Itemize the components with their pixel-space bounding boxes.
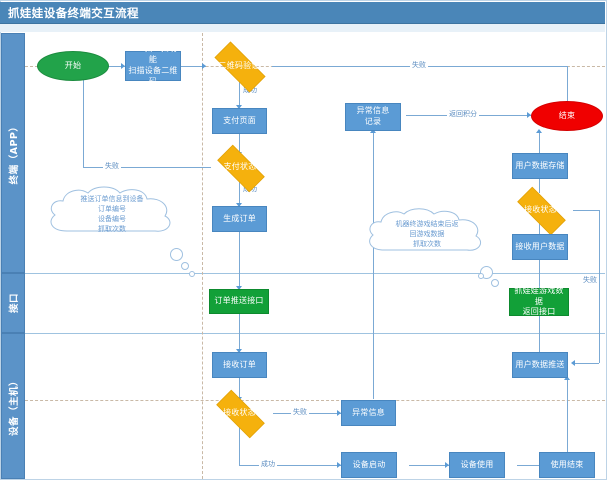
node-start-label: 开始 [65,61,81,72]
node-use-end[interactable]: 使用结束 [539,452,595,478]
edge-right-fail-bottom [575,363,599,364]
node-receive-status-right[interactable]: 接收状态 [508,196,573,224]
lane-divider-2 [25,333,605,334]
node-receive-status-right-label: 接收状态 [524,205,557,216]
node-error-info[interactable]: 异常信息 [341,400,396,426]
node-error-record[interactable]: 异常信息 记录 [345,103,401,131]
page-title: 抓娃娃设备终端交互流程 [8,5,139,21]
arrow-right-fail [571,360,575,366]
edge-label-qr-fail: 失败 [410,60,428,70]
node-device-use-label: 设备使用 [461,460,494,471]
node-start[interactable]: 开始 [37,51,109,81]
lane-divider-1 [25,273,605,274]
node-user-data-push-label: 用户数据推送 [515,360,564,371]
cloud-left-dot-1 [170,248,183,261]
node-pay-status[interactable]: 支付状态 [209,153,271,182]
edge-devstart-devuse [409,465,449,466]
guide-horizontal-bottom [25,400,605,401]
edge-errorinfo-record [373,131,374,399]
node-pay-page[interactable]: 支付页面 [212,108,267,134]
node-create-order[interactable]: 生成订单 [212,206,267,232]
node-scan-label: APP扫一扫功能 扫描设备二维码 [127,44,179,87]
edge-order-push [239,232,240,289]
edge-right-fail-down [599,210,600,363]
edge-right-fail-top [573,210,599,211]
edge-qr-success [239,80,240,107]
edge-label-record: 返回积分 [447,109,479,119]
node-user-data-store[interactable]: 用户数据存储 [512,153,568,179]
guide-vertical [202,33,203,479]
lane-header-interface: 接口 [1,273,25,333]
lane-label-device: 设备（主机） [6,376,20,436]
cloud-right-text: 机器终游戏结束后返 回游戏数据 抓取次数 [362,205,492,263]
cloud-right-dot-3 [478,273,484,279]
node-receive-order-label: 接收订单 [223,360,256,371]
edge-label-recv-fail: 失败 [291,407,309,417]
title-bar: 抓娃娃设备终端交互流程 [0,2,605,24]
arrow-store-end [536,129,542,133]
node-device-start[interactable]: 设备启动 [341,452,397,478]
node-create-order-label: 生成订单 [223,214,256,225]
cloud-left-text: 推送订单信息到设备 订单编号 设备编号 抓取次数 [43,183,181,245]
node-device-use[interactable]: 设备使用 [449,452,505,478]
node-scan[interactable]: APP扫一扫功能 扫描设备二维码 [125,51,181,81]
node-receive-status[interactable]: 接收状态 [207,399,272,427]
edge-useend-push [567,378,568,452]
node-error-record-label: 异常信息 记录 [357,106,390,128]
edge-pay-fail-up [83,75,84,167]
cloud-left-dot-2 [181,262,189,270]
node-end[interactable]: 结束 [531,101,603,131]
cloud-left-dot-3 [189,271,195,277]
node-qr-verify-label: 二维码验证 [219,61,260,72]
node-game-data-api-label: 抓娃娃游戏数据 返回接口 [511,286,567,318]
edge-label-right-fail: 失败 [581,275,599,285]
diagram-canvas: 失败 成功 失败 成功 失败 成功 [25,33,605,479]
node-pay-status-label: 支付状态 [224,162,257,173]
node-device-start-label: 设备启动 [353,460,386,471]
node-order-push-api[interactable]: 订单推送接口 [209,289,269,314]
edge-push-gameapi [539,314,540,352]
node-receive-user-data[interactable]: 接收用户数据 [512,234,568,260]
edge-label-recv-success: 成功 [259,459,277,469]
node-order-push-api-label: 订单推送接口 [214,296,263,307]
node-end-label: 结束 [559,111,575,122]
lane-label-interface: 接口 [6,293,20,313]
edge-recv-success-down [239,427,240,465]
node-error-info-label: 异常信息 [352,408,385,419]
node-qr-verify[interactable]: 二维码验证 [205,51,273,81]
node-pay-page-label: 支付页面 [223,116,256,127]
edge-push-receive [239,314,240,352]
node-game-data-api[interactable]: 抓娃娃游戏数据 返回接口 [509,288,569,316]
lane-header-device: 设备（主机） [1,333,25,479]
node-user-data-push[interactable]: 用户数据推送 [512,352,568,378]
lane-label-terminal: 终端（APP） [6,122,20,185]
edge-recv-success [239,465,341,466]
node-receive-order[interactable]: 接收订单 [212,352,267,378]
node-use-end-label: 使用结束 [551,460,584,471]
title-underbar [0,24,605,32]
edge-qr-fail-down [567,66,568,106]
lane-header-terminal: 终端（APP） [1,33,25,273]
node-user-data-store-label: 用户数据存储 [515,161,564,172]
cloud-right-dot-2 [491,279,499,287]
edge-label-pay-fail: 失败 [103,161,121,171]
node-receive-user-data-label: 接收用户数据 [515,242,564,253]
cloud-callout-left: 推送订单信息到设备 订单编号 设备编号 抓取次数 [43,183,181,245]
flowchart-window: 抓娃娃设备终端交互流程 终端（APP） 接口 设备（主机） 失败 成 [0,0,607,480]
cloud-callout-right: 机器终游戏结束后返 回游戏数据 抓取次数 [362,205,492,263]
edge-store-end [539,131,540,153]
node-receive-status-label: 接收状态 [223,408,256,419]
